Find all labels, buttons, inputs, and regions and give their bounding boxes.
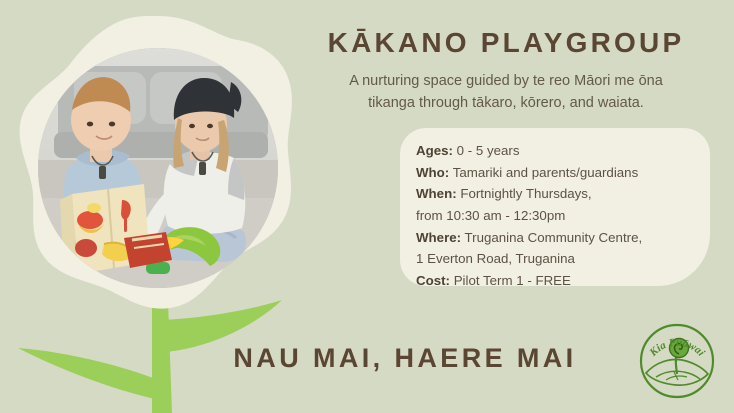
photo-illustration	[38, 48, 278, 288]
logo-icon: Kia Puāwai	[634, 318, 720, 404]
detail-value-when-time: from 10:30 am - 12:30pm	[416, 208, 565, 223]
detail-row-where: Where: Truganina Community Centre,	[416, 227, 700, 249]
detail-label-when: When:	[416, 186, 457, 201]
detail-row-ages: Ages: 0 - 5 years	[416, 140, 700, 162]
detail-label-cost: Cost:	[416, 273, 450, 288]
detail-value-when: Fortnightly Thursdays,	[460, 186, 591, 201]
subtitle-line-1: A nurturing space guided by te reo Māori…	[296, 70, 716, 92]
detail-value-where-address: 1 Everton Road, Truganina	[416, 251, 575, 266]
tagline: NAU MAI, HAERE MAI	[180, 343, 630, 374]
details-list: Ages: 0 - 5 years Who: Tamariki and pare…	[416, 140, 700, 292]
detail-row-who: Who: Tamariki and parents/guardians	[416, 162, 700, 184]
detail-value-who: Tamariki and parents/guardians	[453, 165, 639, 180]
detail-row-when: When: Fortnightly Thursdays,	[416, 183, 700, 205]
poster-canvas: KĀKANO PLAYGROUP A nurturing space guide…	[0, 0, 734, 413]
detail-row-when-time: from 10:30 am - 12:30pm	[416, 205, 700, 227]
kia-puawai-logo: Kia Puāwai	[634, 318, 720, 404]
detail-row-cost: Cost: Pilot Term 1 - FREE	[416, 270, 700, 292]
playgroup-photo	[38, 48, 278, 288]
detail-row-where-address: 1 Everton Road, Truganina	[416, 248, 700, 270]
page-subtitle: A nurturing space guided by te reo Māori…	[296, 70, 716, 115]
detail-value-ages: 0 - 5 years	[457, 143, 520, 158]
page-title: KĀKANO PLAYGROUP	[296, 28, 716, 59]
detail-label-who: Who:	[416, 165, 449, 180]
detail-label-where: Where:	[416, 230, 461, 245]
details-card: Ages: 0 - 5 years Who: Tamariki and pare…	[400, 128, 710, 286]
detail-label-ages: Ages:	[416, 143, 453, 158]
subtitle-line-2: tikanga through tākaro, kōrero, and waia…	[296, 92, 716, 114]
detail-value-cost: Pilot Term 1 - FREE	[454, 273, 571, 288]
detail-value-where: Truganina Community Centre,	[465, 230, 643, 245]
